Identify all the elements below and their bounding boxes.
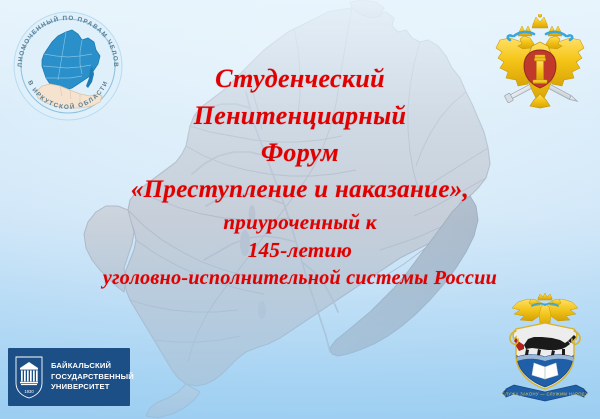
title-line-4: «Преступление и наказание»,	[0, 177, 600, 202]
bsu-text-line-2: государственный	[51, 372, 134, 383]
bsu-logo-text: Байкальский государственный университет	[51, 361, 134, 393]
bsu-founded-year: 1930	[24, 389, 34, 394]
bsu-crest-icon: 1930	[14, 355, 44, 399]
irkutsk-shield	[510, 323, 580, 389]
title-line-6: 145-летию	[0, 240, 600, 261]
title-line-7: уголовно-исполнительной системы России	[0, 268, 600, 288]
ombudsman-logo: УПОЛНОМОЧЕННЫЙ ПО ПРАВАМ ЧЕЛОВЕКА В ИРКУ…	[10, 8, 126, 124]
poster-canvas: Студенческий Пенитенциарный Форум «Прест…	[0, 0, 600, 419]
title-line-5: приуроченный к	[0, 212, 600, 233]
irkutsk-motto-text: СЛУЖА ЗАКОНУ — СЛУЖИМ НАРОДУ	[502, 391, 588, 396]
irkutsk-coat-of-arms: СЛУЖА ЗАКОНУ — СЛУЖИМ НАРОДУ	[500, 293, 590, 409]
title-line-3: Форум	[0, 140, 600, 166]
bsu-text-line-3: университет	[51, 382, 134, 393]
fsin-emblem	[492, 14, 588, 109]
bsu-text-line-1: Байкальский	[51, 361, 134, 372]
bsu-logo: 1930 Байкальский государственный универс…	[8, 348, 130, 406]
irkutsk-eagle	[512, 293, 578, 327]
fsin-ribbon	[508, 32, 572, 40]
